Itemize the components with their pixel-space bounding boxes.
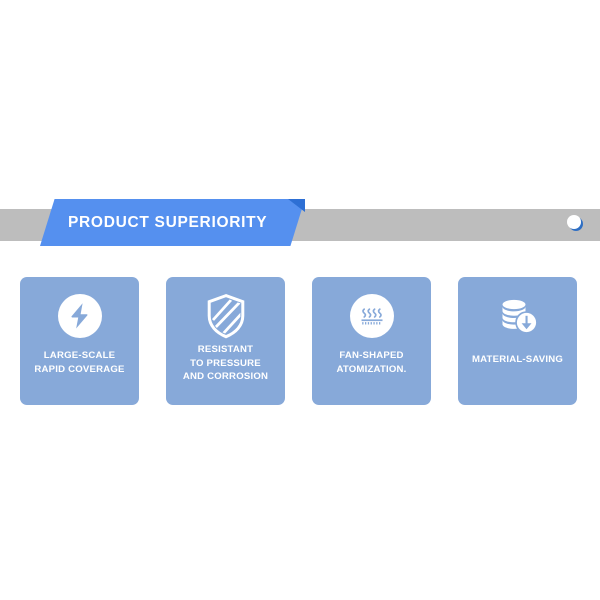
mist-atomization-icon bbox=[312, 285, 431, 347]
feature-card-large-scale-rapid-coverage[interactable]: LARGE-SCALE RAPID COVERAGE bbox=[20, 277, 139, 405]
coins-down-arrow-icon bbox=[458, 285, 577, 347]
circle-indicator-icon bbox=[567, 215, 587, 235]
feature-card-label-line: RAPID COVERAGE bbox=[24, 363, 135, 377]
feature-card-resistant-to-pressure-and-corrosion[interactable]: RESISTANT TO PRESSURE AND CORROSION bbox=[166, 277, 285, 405]
lightning-bolt-icon bbox=[20, 285, 139, 347]
product-superiority-infographic: PRODUCT SUPERIORITY LARGE-SCALE RAPID CO… bbox=[0, 0, 600, 600]
feature-card-label: RESISTANT TO PRESSURE AND CORROSION bbox=[170, 343, 281, 384]
circle-indicator-dot bbox=[567, 215, 581, 229]
feature-card-list: LARGE-SCALE RAPID COVERAGE bbox=[20, 277, 585, 405]
feature-card-label: MATERIAL-SAVING bbox=[462, 353, 573, 367]
feature-card-fan-shaped-atomization[interactable]: FAN-SHAPED ATOMIZATION. bbox=[312, 277, 431, 405]
feature-card-label-line: FAN-SHAPED bbox=[316, 349, 427, 363]
shield-icon bbox=[166, 285, 285, 347]
banner-band: PRODUCT SUPERIORITY bbox=[0, 196, 600, 248]
feature-card-label-line: AND CORROSION bbox=[170, 370, 281, 384]
feature-card-label: LARGE-SCALE RAPID COVERAGE bbox=[24, 349, 135, 376]
page-title: PRODUCT SUPERIORITY bbox=[68, 196, 267, 249]
feature-card-label: FAN-SHAPED ATOMIZATION. bbox=[316, 349, 427, 376]
feature-card-label-line: TO PRESSURE bbox=[170, 357, 281, 371]
feature-card-label-line: ATOMIZATION. bbox=[316, 363, 427, 377]
feature-card-label-line: RESISTANT bbox=[170, 343, 281, 357]
feature-card-label-line: MATERIAL-SAVING bbox=[462, 353, 573, 367]
feature-card-label-line: LARGE-SCALE bbox=[24, 349, 135, 363]
feature-card-material-saving[interactable]: MATERIAL-SAVING bbox=[458, 277, 577, 405]
